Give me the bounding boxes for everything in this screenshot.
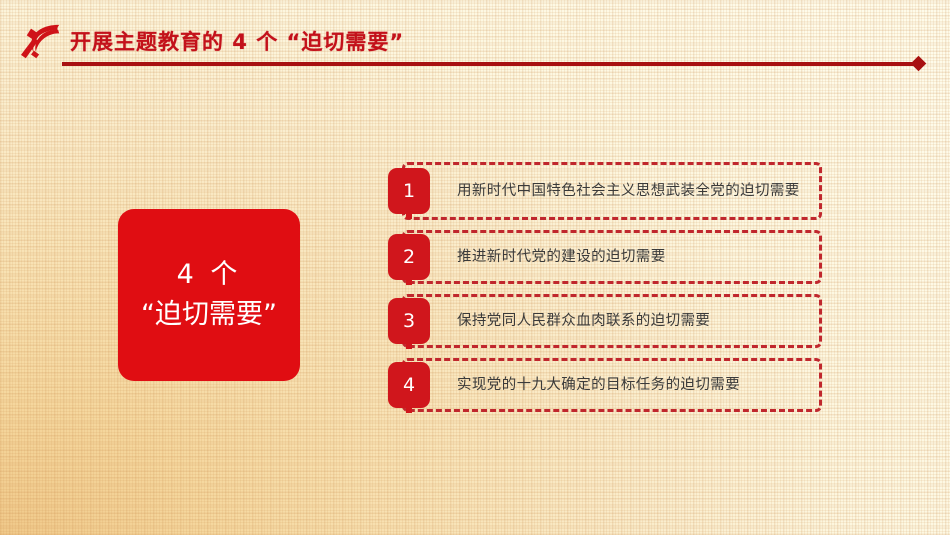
header-divider-line: [62, 62, 918, 66]
header-divider-diamond-icon: [911, 56, 927, 72]
list-item-label: 实现党的十九大确定的目标任务的迫切需要: [457, 374, 740, 396]
slide-canvas: 开展主题教育的 4 个 “迫切需要” 4 个 “迫切需要” 1 用新时代中国特色…: [0, 0, 950, 535]
list-item-number-badge: 1: [388, 168, 430, 214]
summary-card-line-1: 4 个: [177, 255, 242, 295]
summary-card-line-2: “迫切需要”: [141, 295, 277, 335]
summary-card: 4 个 “迫切需要”: [118, 209, 300, 381]
list-item-box: 用新时代中国特色社会主义思想武装全党的迫切需要: [402, 162, 822, 220]
slide-header: 开展主题教育的 4 个 “迫切需要”: [0, 0, 950, 78]
list-item[interactable]: 3 保持党同人民群众血肉联系的迫切需要: [388, 294, 822, 348]
list-item-label: 保持党同人民群众血肉联系的迫切需要: [457, 310, 710, 332]
list-item[interactable]: 2 推进新时代党的建设的迫切需要: [388, 230, 822, 284]
list-item-box: 实现党的十九大确定的目标任务的迫切需要: [402, 358, 822, 412]
list-item-label: 推进新时代党的建设的迫切需要: [457, 246, 666, 268]
list-item-number-badge: 2: [388, 234, 430, 280]
list-item[interactable]: 4 实现党的十九大确定的目标任务的迫切需要: [388, 358, 822, 412]
cpc-hammer-sickle-emblem-icon: [18, 22, 66, 64]
list-item-box: 保持党同人民群众血肉联系的迫切需要: [402, 294, 822, 348]
list-item-label: 用新时代中国特色社会主义思想武装全党的迫切需要: [457, 180, 800, 202]
page-title: 开展主题教育的 4 个 “迫切需要”: [70, 28, 404, 56]
list-item-box: 推进新时代党的建设的迫切需要: [402, 230, 822, 284]
list-item-number-badge: 4: [388, 362, 430, 408]
list-item-number-badge: 3: [388, 298, 430, 344]
list-item[interactable]: 1 用新时代中国特色社会主义思想武装全党的迫切需要: [388, 162, 822, 220]
urgent-needs-list: 1 用新时代中国特色社会主义思想武装全党的迫切需要 2 推进新时代党的建设的迫切…: [388, 162, 822, 422]
